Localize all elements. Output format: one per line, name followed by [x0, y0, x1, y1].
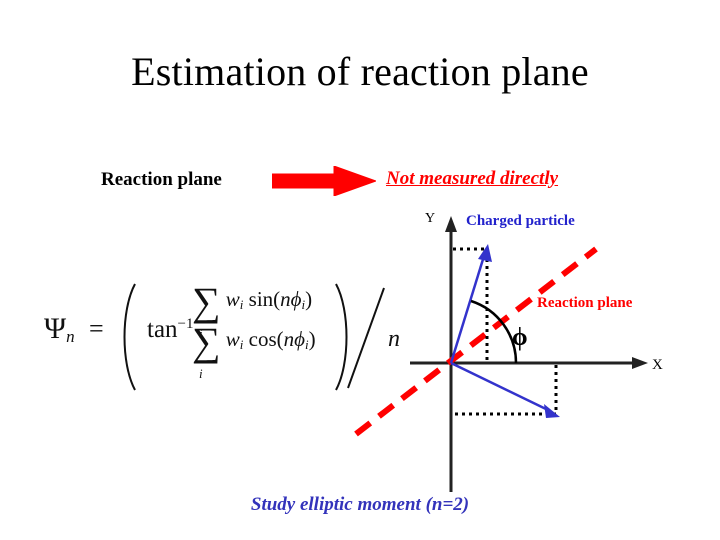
x-axis-label: X	[652, 357, 663, 374]
y-axis-label: Y	[425, 211, 435, 227]
diagram-svg	[0, 0, 720, 540]
slide-canvas: Estimation of reaction plane Reaction pl…	[0, 0, 720, 540]
footer-note: Study elliptic moment (n=2)	[0, 494, 720, 516]
angle-phi-label: ϕ	[512, 324, 528, 352]
charged-particle-label: Charged particle	[466, 213, 575, 230]
particle-vector-upper-arrowhead	[478, 244, 492, 262]
particle-vector-upper	[451, 256, 484, 363]
x-axis-arrowhead	[632, 357, 648, 369]
reaction-plane-dashed-line	[356, 249, 596, 434]
particle-vector-lower-arrowhead	[544, 404, 560, 418]
particle-vector-lower	[451, 363, 548, 410]
angle-arc-phi	[471, 301, 516, 363]
reaction-plane-label: Reaction plane	[537, 295, 632, 312]
reaction-plane-diagram: Y X Charged particle Reaction plane ϕ	[0, 0, 720, 540]
y-axis-arrowhead	[445, 216, 457, 232]
